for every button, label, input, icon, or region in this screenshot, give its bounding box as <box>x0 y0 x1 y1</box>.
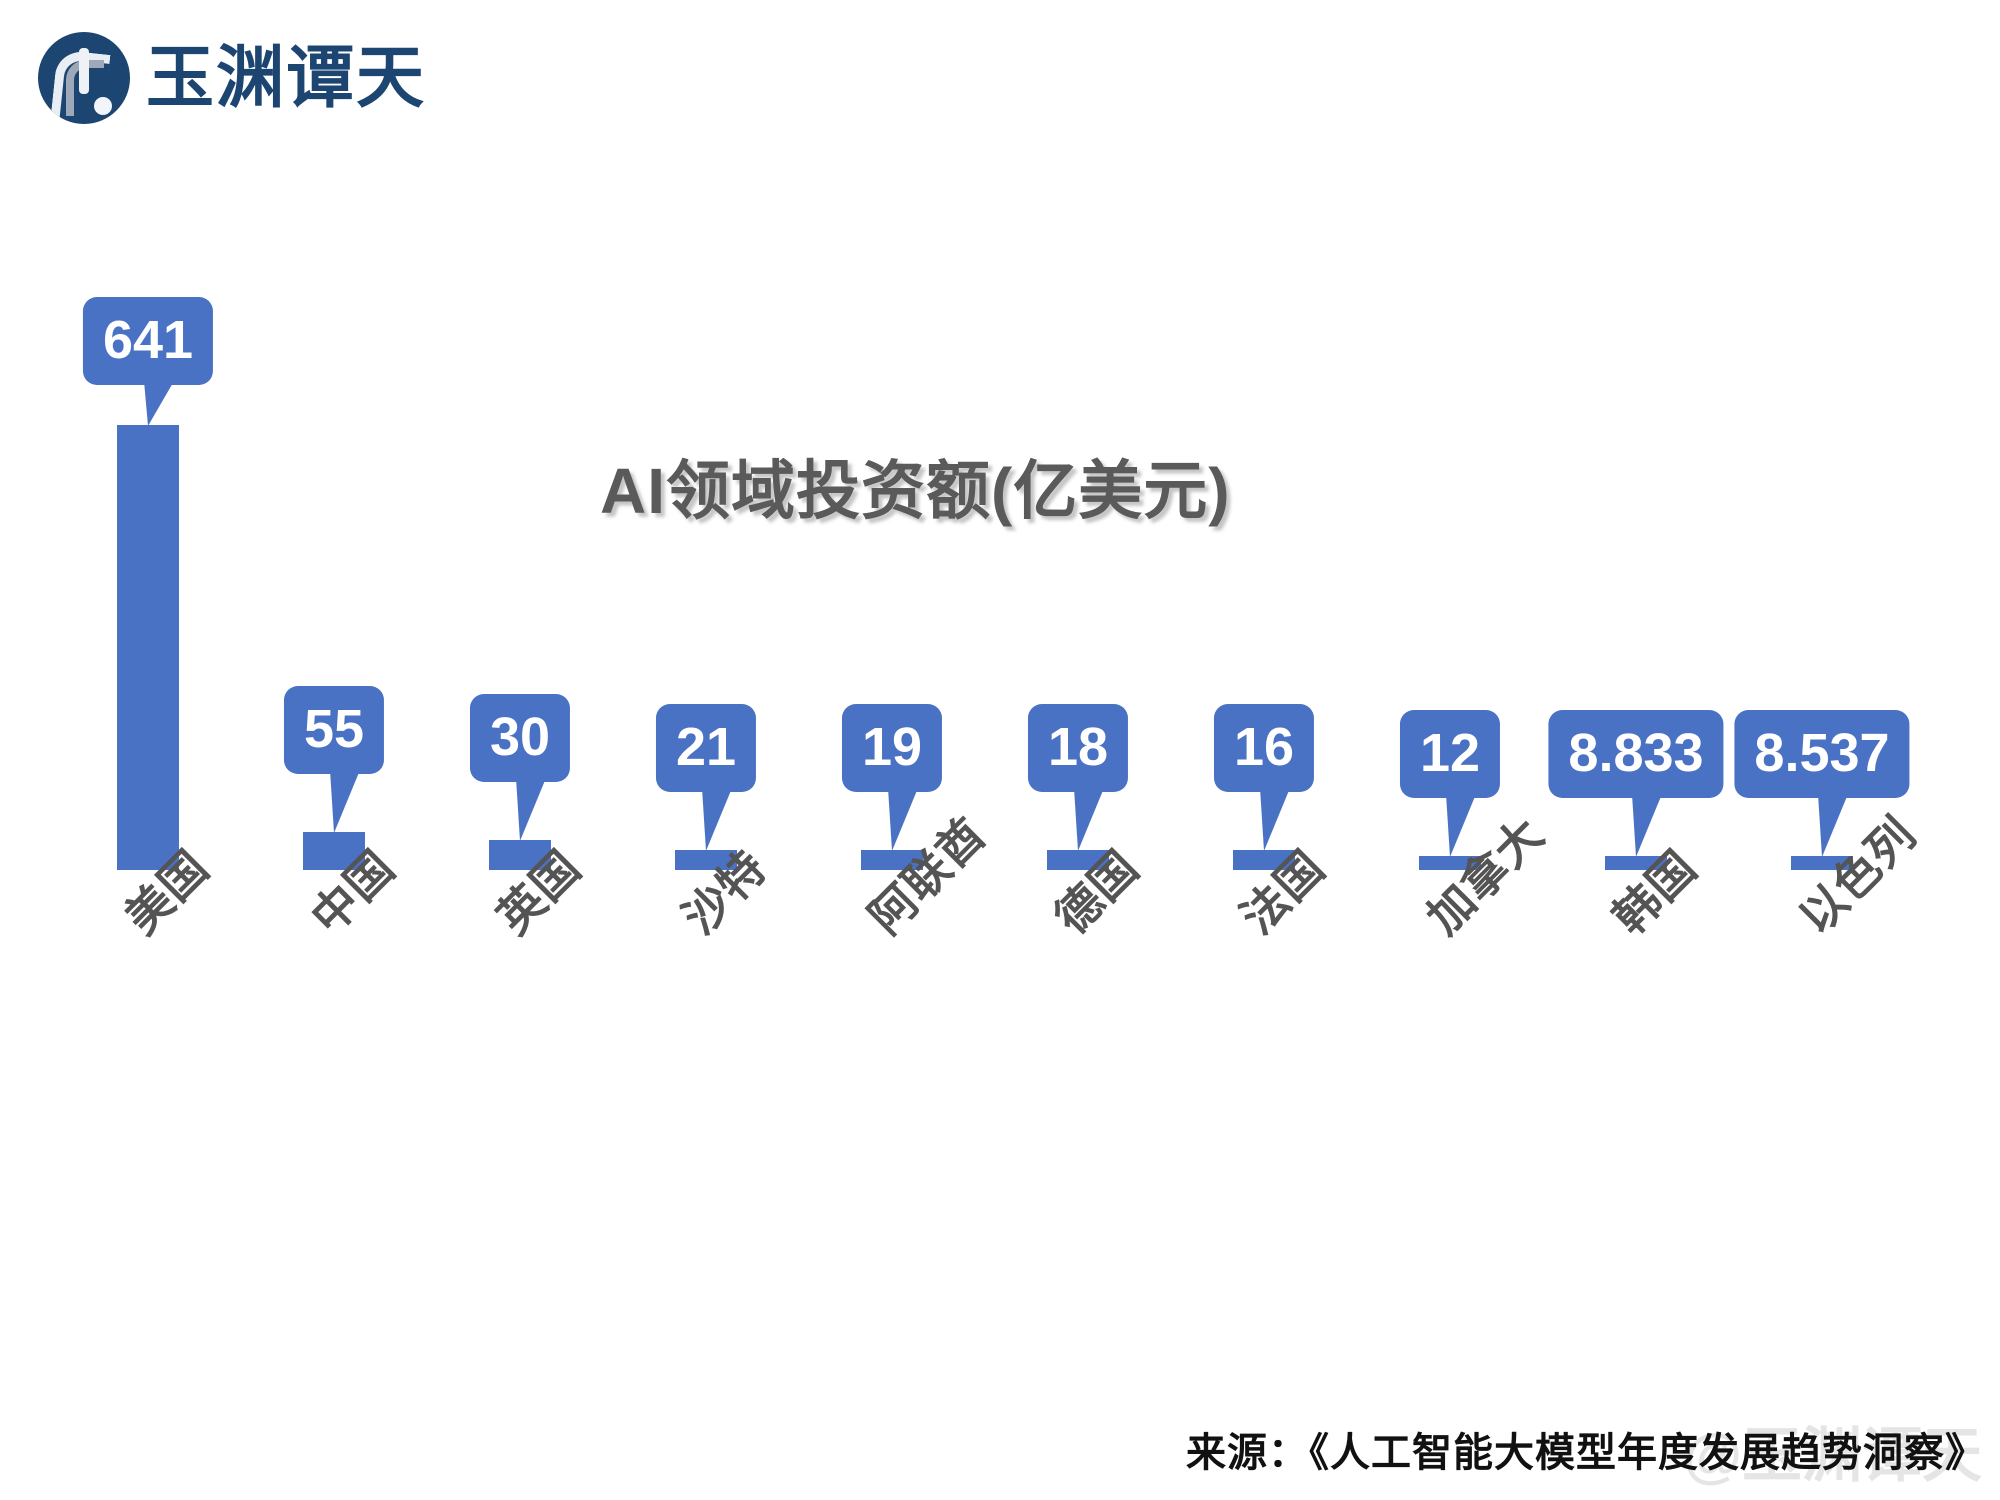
value-label-bubble: 55 <box>284 686 384 774</box>
value-label-bubble: 21 <box>656 704 756 792</box>
bubble-tail <box>330 770 376 834</box>
bubble-tail <box>516 778 562 842</box>
value-label-bubble: 8.833 <box>1548 710 1723 798</box>
value-label-bubble: 8.537 <box>1734 710 1909 798</box>
source-caption: 来源：《人工智能大模型年度发展趋势洞察》 <box>1186 1420 1986 1478</box>
bubble-tail <box>144 381 190 427</box>
value-label-bubble: 16 <box>1214 704 1314 792</box>
chart-page: 玉渊谭天 AI领域投资额(亿美元) 641美国55中国30英国21沙特19阿联酋… <box>0 0 2000 1500</box>
bar <box>117 425 179 870</box>
value-label-bubble: 12 <box>1400 710 1500 798</box>
bar-chart-plot-area: 641美国55中国30英国21沙特19阿联酋18德国16法国12加拿大8.833… <box>0 0 2000 1500</box>
value-label-bubble: 18 <box>1028 704 1128 792</box>
value-label-bubble: 30 <box>470 694 570 782</box>
value-label-bubble: 641 <box>83 297 213 385</box>
value-label-bubble: 19 <box>842 704 942 792</box>
